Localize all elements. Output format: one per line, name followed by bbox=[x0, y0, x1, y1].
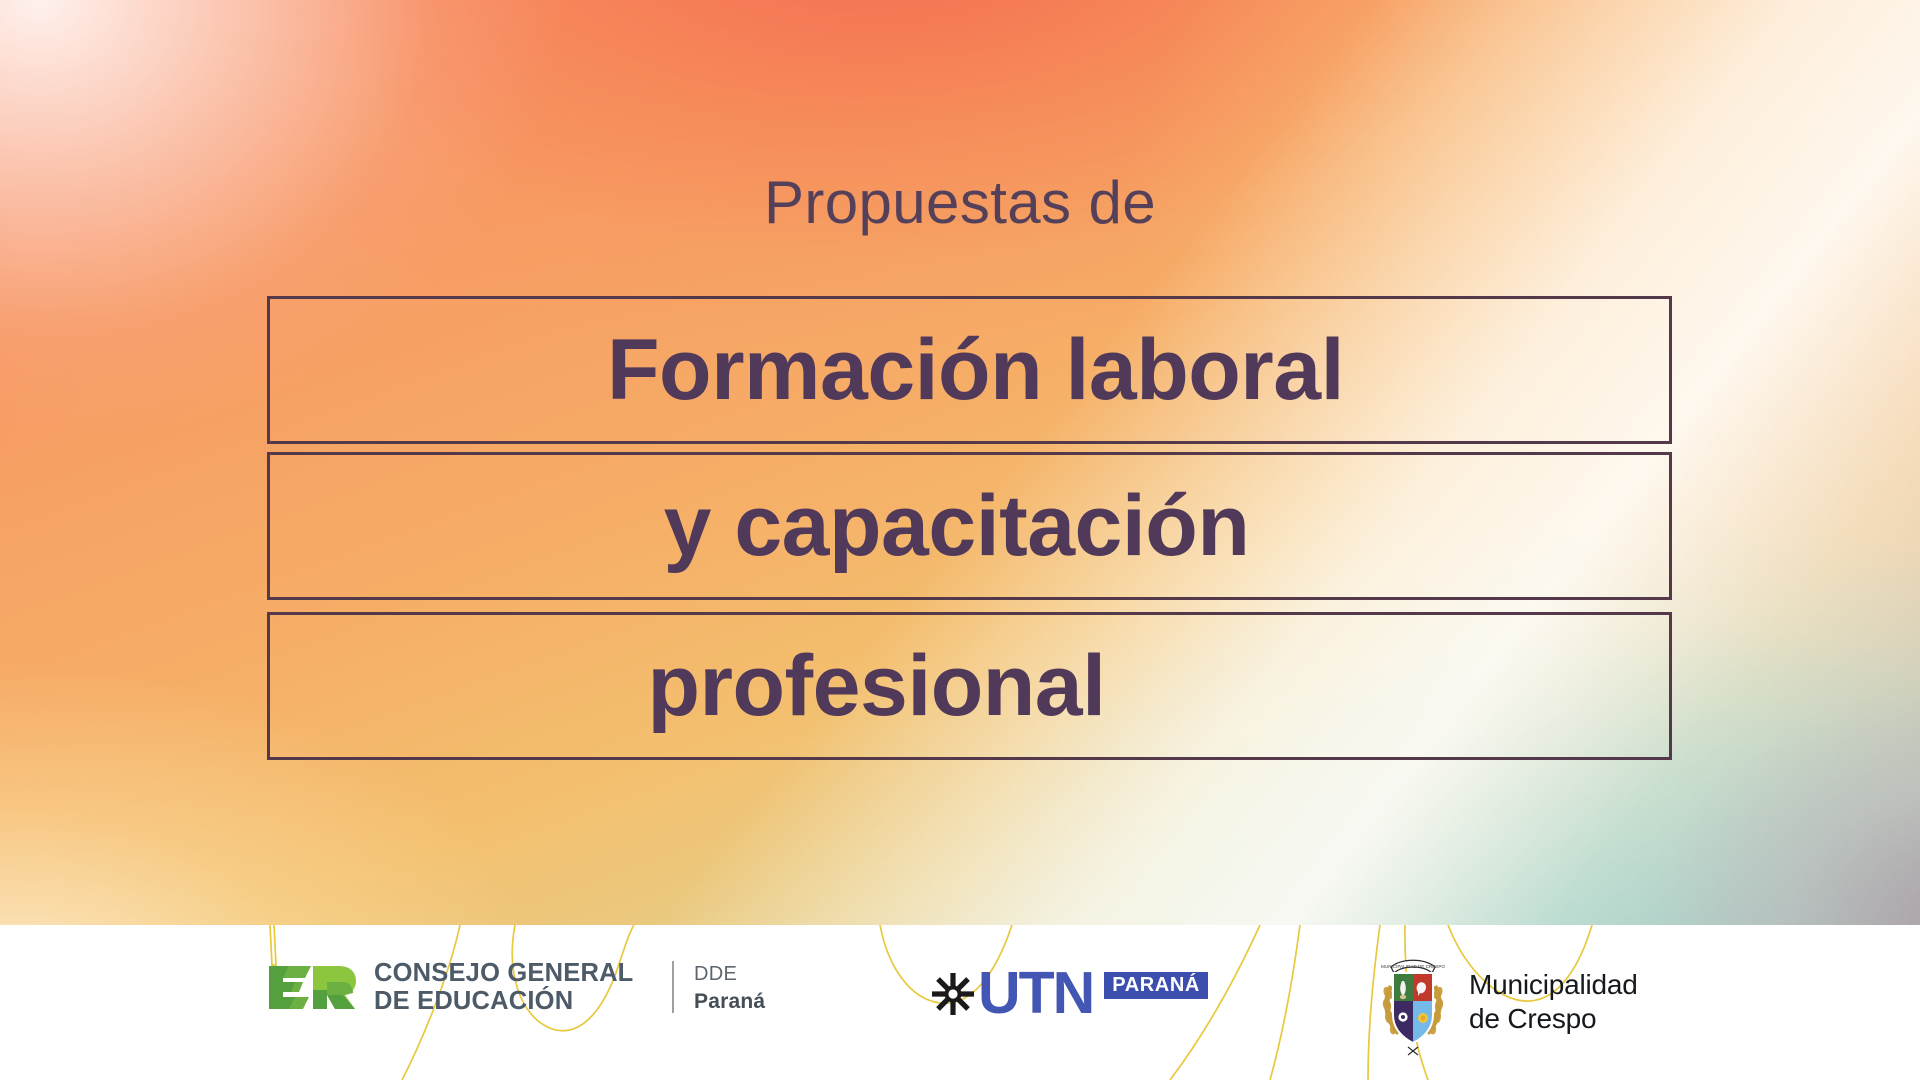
footer-logo-row: CONSEJO GENERAL DE EDUCACIÓN DDE Paraná bbox=[0, 925, 1920, 1080]
title-box-3: profesional bbox=[267, 612, 1672, 760]
logo-utn-parana[interactable]: UTN PARANÁ bbox=[930, 967, 1208, 1020]
svg-text:MUNICIPALIDAD DE CRESPO: MUNICIPALIDAD DE CRESPO bbox=[1381, 964, 1445, 969]
logo-cge-line1: CONSEJO GENERAL bbox=[374, 959, 633, 987]
title-box-1: Formación laboral bbox=[267, 296, 1672, 444]
title-box-2: y capacitación bbox=[267, 452, 1672, 600]
title-line-3: profesional bbox=[270, 643, 1669, 729]
logo-utn-badge: PARANÁ bbox=[1104, 972, 1208, 999]
argentine-sun-icon bbox=[930, 971, 976, 1017]
title-line-1: Formación laboral bbox=[270, 327, 1669, 413]
slide-kicker: Propuestas de bbox=[0, 173, 1920, 233]
title-line-2: y capacitación bbox=[270, 483, 1669, 569]
vertical-divider-icon bbox=[672, 961, 674, 1013]
gradient-background: Propuestas de Formación laboral y capaci… bbox=[0, 0, 1920, 925]
logo-muni-line1: Municipalidad bbox=[1469, 968, 1638, 1002]
logo-dde-line2: Paraná bbox=[694, 988, 765, 1016]
logo-muni-wordmark: Municipalidad de Crespo bbox=[1469, 968, 1638, 1036]
footer-bar: CONSEJO GENERAL DE EDUCACIÓN DDE Paraná bbox=[0, 925, 1920, 1080]
logo-consejo-general-de-educacion[interactable]: CONSEJO GENERAL DE EDUCACIÓN bbox=[265, 959, 633, 1015]
slide-canvas: Propuestas de Formación laboral y capaci… bbox=[0, 0, 1920, 1080]
logo-muni-line2: de Crespo bbox=[1469, 1002, 1638, 1036]
logo-cge-line2: DE EDUCACIÓN bbox=[374, 987, 633, 1015]
headline-block: Propuestas de Formación laboral y capaci… bbox=[0, 0, 1920, 925]
logo-dde-parana[interactable]: DDE Paraná bbox=[672, 961, 765, 1016]
logo-dde-line1: DDE bbox=[694, 961, 765, 988]
logo-municipalidad-de-crespo[interactable]: MUNICIPALIDAD DE CRESPO bbox=[1375, 943, 1638, 1061]
logo-cge-wordmark: CONSEJO GENERAL DE EDUCACIÓN bbox=[374, 959, 633, 1015]
er-monogram-icon bbox=[265, 960, 357, 1014]
logo-utn-wordmark: UTN bbox=[978, 967, 1093, 1020]
coat-of-arms-icon: MUNICIPALIDAD DE CRESPO bbox=[1375, 943, 1451, 1061]
